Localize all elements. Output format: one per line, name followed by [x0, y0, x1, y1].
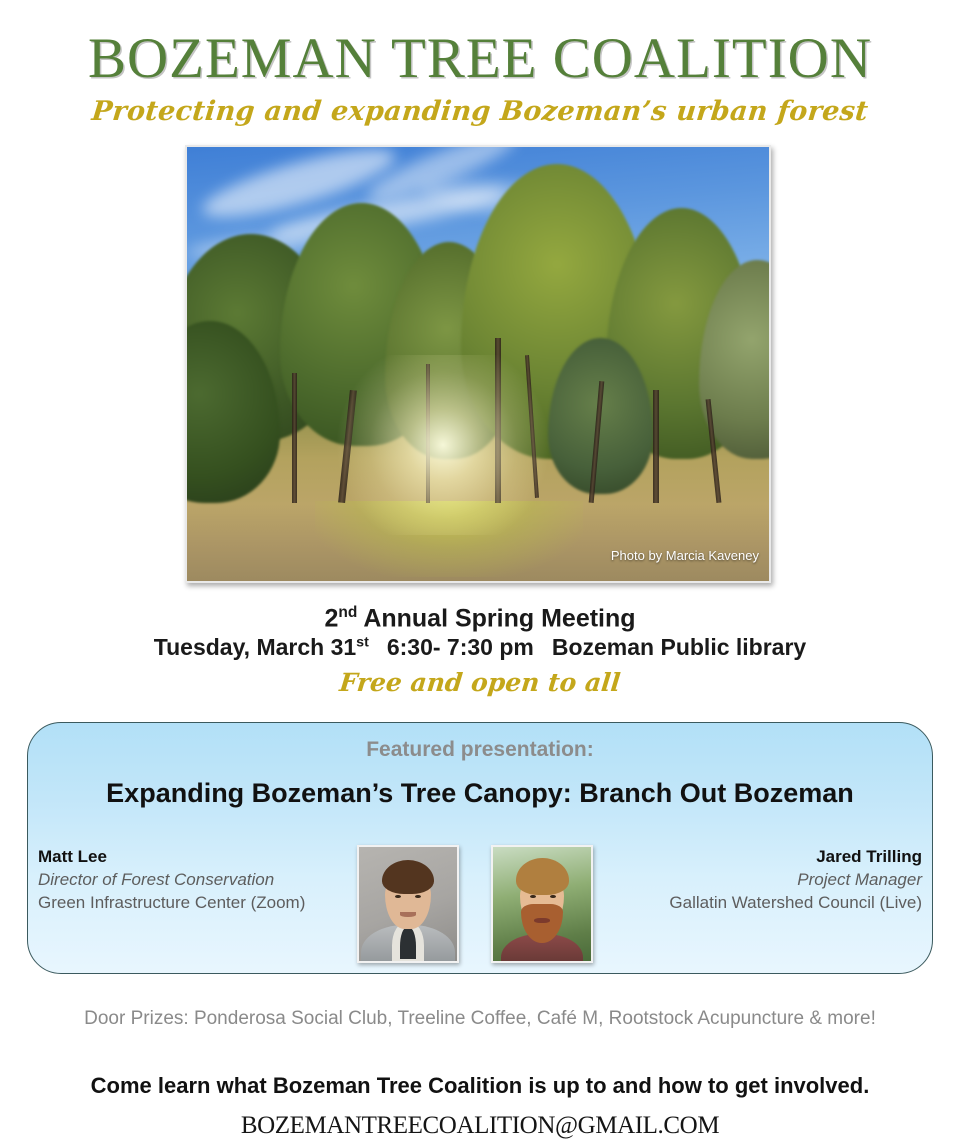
meeting-details: Tuesday, March 31st6:30- 7:30 pmBozeman …	[0, 634, 960, 661]
hero-photo: Photo by Marcia Kaveney	[185, 145, 771, 583]
meeting-headline-rest: Annual Spring Meeting	[357, 604, 635, 632]
tree-trunk	[495, 338, 501, 503]
photo-credit: Photo by Marcia Kaveney	[611, 548, 759, 563]
featured-label: Featured presentation:	[0, 738, 960, 762]
speaker-headshot-matt-lee	[357, 845, 459, 963]
speaker-name: Matt Lee	[38, 845, 338, 868]
call-to-action: Come learn what Bozeman Tree Coalition i…	[0, 1073, 960, 1099]
meeting-location: Bozeman Public library	[552, 634, 806, 660]
mouth	[534, 918, 550, 924]
speaker-jared-trilling: Jared Trilling Project Manager Gallatin …	[622, 845, 922, 914]
sunlit-grass	[315, 501, 583, 577]
speaker-org: Green Infrastructure Center (Zoom)	[38, 891, 338, 914]
free-note: Free and open to all	[0, 668, 960, 697]
tree-trunk	[292, 373, 297, 503]
meeting-date-ordinal: st	[356, 634, 369, 650]
tagline: Protecting and expanding Bozeman’s urban…	[0, 96, 960, 127]
contact-email[interactable]: BOZEMANTREECOALITION@GMAIL.COM	[0, 1112, 960, 1140]
speaker-org: Gallatin Watershed Council (Live)	[622, 891, 922, 914]
door-prizes: Door Prizes: Ponderosa Social Club, Tree…	[0, 1008, 960, 1030]
inner-shirt	[400, 927, 416, 959]
hair	[516, 858, 570, 894]
speaker-name: Jared Trilling	[622, 845, 922, 868]
hair	[382, 860, 435, 894]
tree-trunk	[653, 390, 659, 503]
meeting-headline: 2nd Annual Spring Meeting	[0, 604, 960, 633]
featured-title: Expanding Bozeman’s Tree Canopy: Branch …	[0, 778, 960, 809]
speaker-matt-lee: Matt Lee Director of Forest Conservation…	[38, 845, 338, 914]
speaker-role: Project Manager	[622, 868, 922, 891]
meeting-headline-number: 2	[324, 604, 338, 632]
tree-trunk	[426, 364, 430, 503]
speaker-role: Director of Forest Conservation	[38, 868, 338, 891]
page-title: BOZEMAN TREE COALITION	[0, 26, 960, 91]
speaker-headshot-jared-trilling	[491, 845, 593, 963]
meeting-date: Tuesday, March 31	[154, 634, 356, 660]
meeting-time: 6:30- 7:30 pm	[387, 634, 534, 660]
meeting-headline-ordinal: nd	[338, 604, 357, 621]
mouth	[400, 912, 416, 917]
